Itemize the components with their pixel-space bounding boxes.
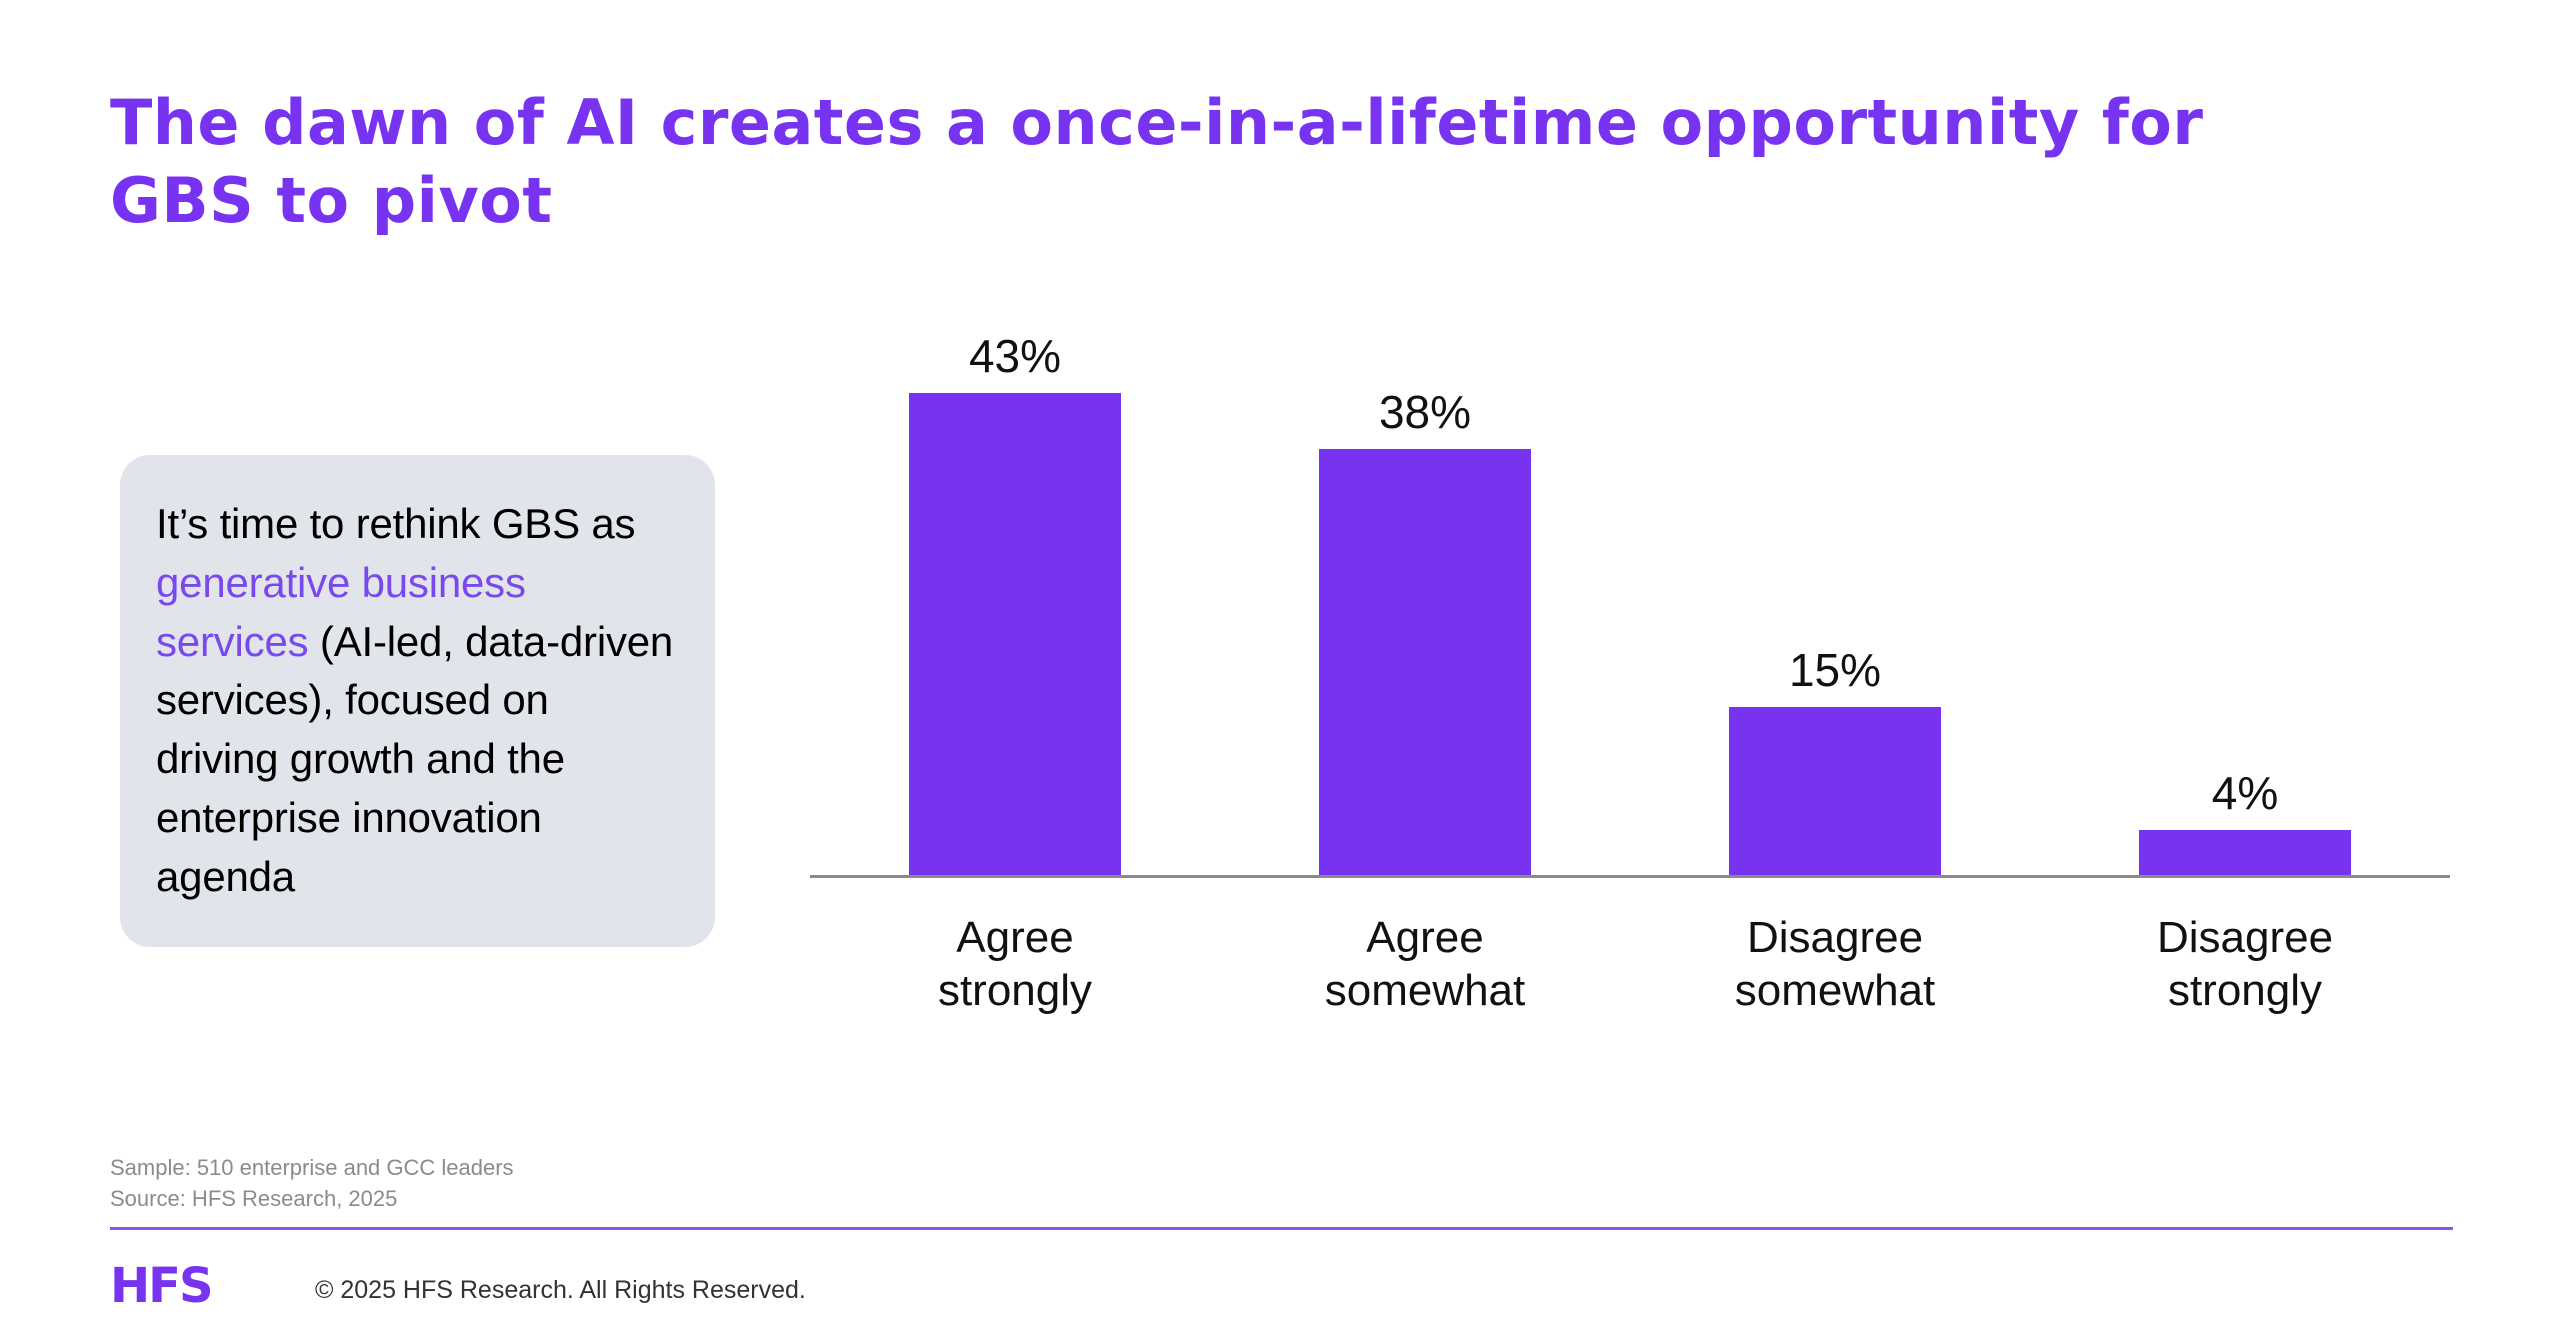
page-title: The dawn of AI creates a once-in-a-lifet…	[110, 84, 2270, 240]
x-axis-label-disagree-strongly: Disagree strongly	[2040, 912, 2450, 1018]
bar-disagree-somewhat[interactable]	[1729, 707, 1941, 875]
hfs-logo: HFS	[110, 1262, 212, 1310]
sample-line: Sample: 510 enterprise and GCC leaders	[110, 1152, 514, 1183]
x-axis-label-line2: somewhat	[1220, 965, 1630, 1018]
source-note: Sample: 510 enterprise and GCC leaders S…	[110, 1152, 514, 1214]
bar-value-label: 43%	[969, 333, 1061, 379]
x-axis-label-line1: Disagree	[2157, 913, 2333, 962]
bar-value-label: 38%	[1379, 389, 1471, 435]
x-axis-label-agree-somewhat: Agree somewhat	[1220, 912, 1630, 1018]
callout-box: It’s time to rethink GBS as generative b…	[120, 455, 715, 947]
bar-slot: 4%	[2040, 315, 2450, 875]
bar-chart: 43% 38% 15% 4%	[810, 300, 2450, 900]
x-axis-label-line2: strongly	[810, 965, 1220, 1018]
footer-divider	[110, 1227, 2453, 1230]
bar-agree-somewhat[interactable]	[1319, 449, 1531, 875]
x-axis-label-line1: Disagree	[1747, 913, 1923, 962]
slide-canvas: The dawn of AI creates a once-in-a-lifet…	[0, 0, 2560, 1337]
x-axis-label-agree-strongly: Agree strongly	[810, 912, 1220, 1018]
bar-value-label: 4%	[2212, 770, 2278, 816]
x-axis-label-line1: Agree	[956, 913, 1073, 962]
bar-agree-strongly[interactable]	[909, 393, 1121, 875]
copyright-text: © 2025 HFS Research. All Rights Reserved…	[315, 1278, 806, 1303]
bar-slot: 43%	[810, 315, 1220, 875]
bar-value-label: 15%	[1789, 647, 1881, 693]
bar-disagree-strongly[interactable]	[2139, 830, 2351, 875]
callout-text: It’s time to rethink GBS as generative b…	[156, 495, 677, 907]
bar-slot: 15%	[1630, 315, 2040, 875]
source-line: Source: HFS Research, 2025	[110, 1183, 514, 1214]
x-axis-line	[810, 875, 2450, 878]
x-axis-label-disagree-somewhat: Disagree somewhat	[1630, 912, 2040, 1018]
x-axis-label-line2: strongly	[2040, 965, 2450, 1018]
callout-text-before: It’s time to rethink GBS as	[156, 500, 635, 547]
bar-slot: 38%	[1220, 315, 1630, 875]
x-axis-label-line2: somewhat	[1630, 965, 2040, 1018]
x-axis-labels: Agree strongly Agree somewhat Disagree s…	[810, 912, 2450, 1042]
x-axis-label-line1: Agree	[1366, 913, 1483, 962]
chart-plot-area: 43% 38% 15% 4%	[810, 328, 2450, 888]
